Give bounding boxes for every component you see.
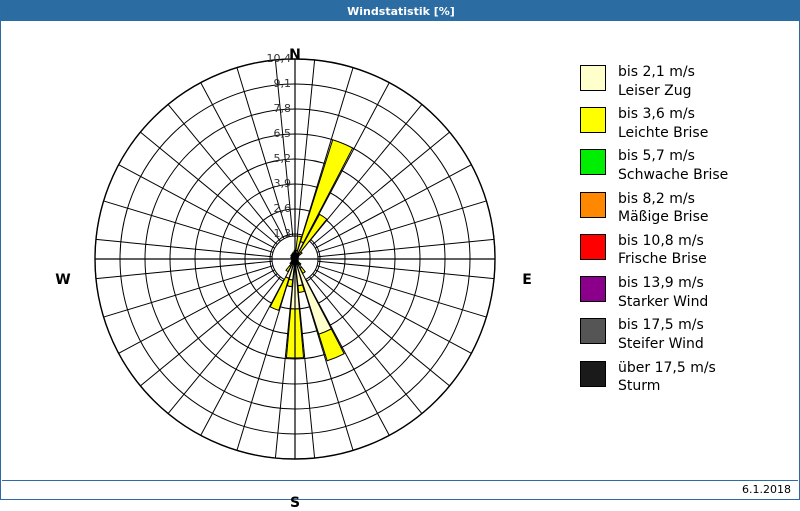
- legend-item-text: bis 17,5 m/sSteifer Wind: [618, 316, 704, 353]
- legend-item[interactable]: bis 2,1 m/sLeiser Zug: [580, 63, 792, 100]
- radial-tick-label: 10,4: [247, 52, 291, 65]
- radial-tick-label: 2,6: [247, 202, 291, 215]
- radial-tick-label: 1,3: [247, 227, 291, 240]
- legend-item[interactable]: über 17,5 m/sSturm: [580, 359, 792, 396]
- legend-name-label: Frische Brise: [618, 250, 707, 269]
- legend: bis 2,1 m/sLeiser Zugbis 3,6 m/sLeichte …: [580, 63, 792, 401]
- legend-speed-label: bis 2,1 m/s: [618, 63, 695, 82]
- grid-spoke: [104, 266, 273, 317]
- legend-item-text: bis 3,6 m/sLeichte Brise: [618, 105, 708, 142]
- color-swatch-icon: [580, 318, 606, 344]
- legend-name-label: Mäßige Brise: [618, 208, 708, 227]
- color-swatch-icon: [580, 107, 606, 133]
- legend-speed-label: bis 17,5 m/s: [618, 316, 704, 335]
- legend-name-label: Steifer Wind: [618, 335, 704, 354]
- wind-petal-segment: [293, 252, 295, 255]
- compass-label-south: S: [275, 495, 315, 511]
- grid-spoke: [96, 261, 272, 278]
- compass-label-west: W: [43, 272, 83, 288]
- legend-item[interactable]: bis 10,8 m/sFrische Brise: [580, 232, 792, 269]
- legend-speed-label: bis 13,9 m/s: [618, 274, 708, 293]
- page-title: Windstatistik [%]: [347, 5, 455, 18]
- legend-item-text: bis 5,7 m/sSchwache Brise: [618, 147, 728, 184]
- legend-name-label: Schwache Brise: [618, 166, 728, 185]
- legend-item-text: über 17,5 m/sSturm: [618, 359, 716, 396]
- footer-divider: [2, 480, 798, 481]
- wind-petal-segment: [270, 277, 289, 310]
- window-title-bar: Windstatistik [%]: [1, 1, 800, 21]
- legend-item-text: bis 13,9 m/sStarker Wind: [618, 274, 708, 311]
- radial-tick-label: 3,9: [247, 177, 291, 190]
- chart-canvas: N S W E 1,32,63,95,26,57,89,110,4 bis 2,…: [2, 21, 799, 479]
- grid-spoke: [317, 266, 486, 317]
- legend-item[interactable]: bis 3,6 m/sLeichte Brise: [580, 105, 792, 142]
- grid-spoke: [302, 281, 353, 450]
- color-swatch-icon: [580, 65, 606, 91]
- legend-item-text: bis 8,2 m/sMäßige Brise: [618, 190, 708, 227]
- radial-tick-label: 5,2: [247, 152, 291, 165]
- radial-tick-label: 7,8: [247, 102, 291, 115]
- color-swatch-icon: [580, 149, 606, 175]
- legend-speed-label: bis 8,2 m/s: [618, 190, 708, 209]
- legend-name-label: Starker Wind: [618, 293, 708, 312]
- grid-spoke: [317, 201, 486, 252]
- footer-date: 6.1.2018: [742, 483, 791, 496]
- legend-item[interactable]: bis 5,7 m/sSchwache Brise: [580, 147, 792, 184]
- color-swatch-icon: [580, 234, 606, 260]
- legend-speed-label: bis 10,8 m/s: [618, 232, 707, 251]
- legend-speed-label: über 17,5 m/s: [618, 359, 716, 378]
- legend-name-label: Leichte Brise: [618, 124, 708, 143]
- legend-item[interactable]: bis 8,2 m/sMäßige Brise: [580, 190, 792, 227]
- legend-speed-label: bis 3,6 m/s: [618, 105, 708, 124]
- legend-item[interactable]: bis 17,5 m/sSteifer Wind: [580, 316, 792, 353]
- legend-speed-label: bis 5,7 m/s: [618, 147, 728, 166]
- legend-item-text: bis 2,1 m/sLeiser Zug: [618, 63, 695, 100]
- color-swatch-icon: [580, 192, 606, 218]
- grid-spoke: [96, 239, 272, 256]
- color-swatch-icon: [580, 276, 606, 302]
- grid-spoke: [318, 239, 494, 256]
- compass-label-east: E: [507, 272, 547, 288]
- grid-spoke: [237, 281, 288, 450]
- legend-item-text: bis 10,8 m/sFrische Brise: [618, 232, 707, 269]
- windstatistik-window: Windstatistik [%] N S W E 1,32,63,95,26,…: [0, 0, 800, 500]
- radial-tick-label: 6,5: [247, 127, 291, 140]
- color-swatch-icon: [580, 361, 606, 387]
- legend-item[interactable]: bis 13,9 m/sStarker Wind: [580, 274, 792, 311]
- legend-name-label: Sturm: [618, 377, 716, 396]
- radial-tick-label: 9,1: [247, 77, 291, 90]
- polar-axes: [95, 59, 495, 459]
- grid-spoke: [318, 261, 494, 278]
- legend-name-label: Leiser Zug: [618, 82, 695, 101]
